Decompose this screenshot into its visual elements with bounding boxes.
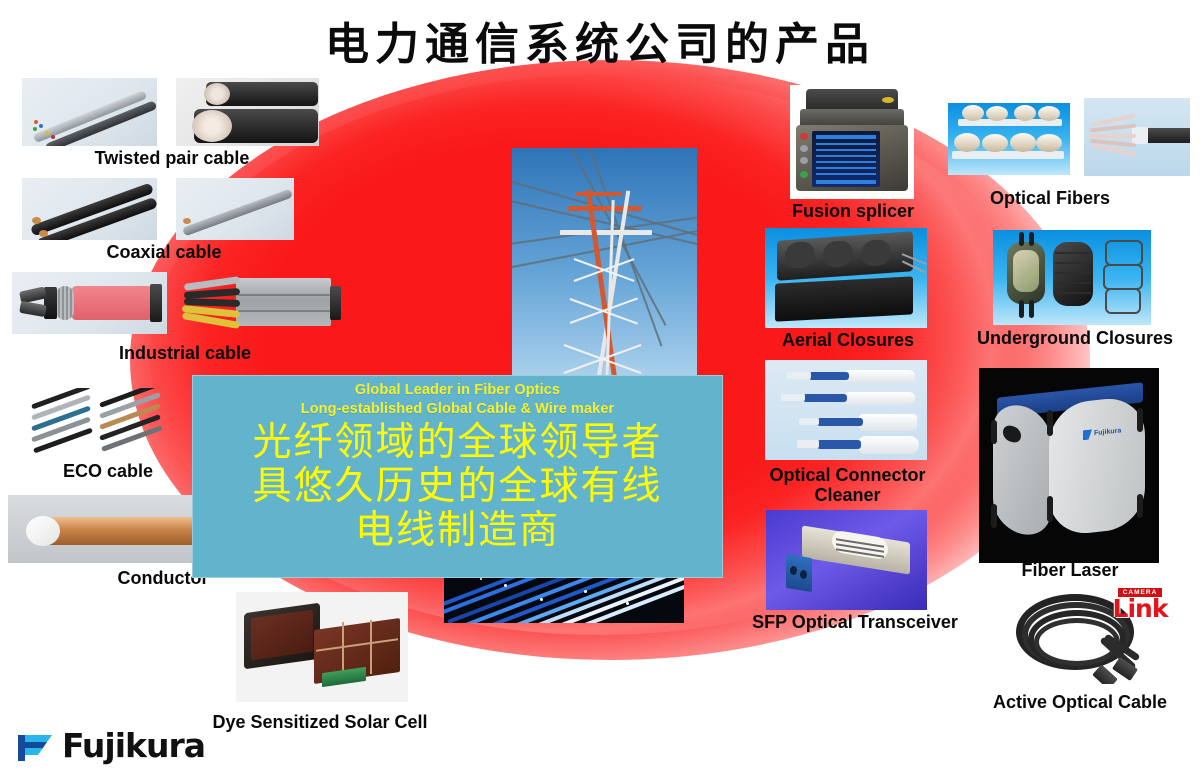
product-image-conductor (8, 495, 213, 563)
fujikura-mark-icon (14, 729, 56, 763)
product-image-industrial-b (180, 272, 345, 334)
camera-link-main-text: Link (1104, 597, 1176, 621)
product-image-industrial-a (12, 272, 167, 334)
product-image-aerial-closures (765, 228, 927, 328)
product-label-solar-cell: Dye Sensitized Solar Cell (190, 712, 450, 732)
slide-canvas: 电力通信系统公司的产品 Twisted pair cable Coaxial c… (0, 0, 1200, 772)
callout-chinese-line-2: 具悠久历史的全球有线 (192, 465, 723, 509)
product-label-optical-fibers: Optical Fibers (960, 188, 1140, 208)
product-image-underground-closures (993, 230, 1151, 325)
product-image-eco-cable (28, 388, 168, 456)
product-image-twisted-pair-a (22, 78, 157, 146)
product-label-aerial-closures: Aerial Closures (768, 330, 928, 350)
product-image-coaxial-a (22, 178, 157, 240)
product-label-coaxial-cable: Coaxial cable (14, 242, 314, 262)
product-label-industrial-cable: Industrial cable (30, 343, 340, 363)
product-image-optical-fibers-cable-end (1084, 98, 1190, 176)
callout-chinese-line-3: 电线制造商 (192, 509, 723, 553)
product-image-optical-fibers-spools (948, 103, 1070, 175)
product-label-fiber-laser: Fiber Laser (990, 560, 1150, 580)
callout-chinese-line-1: 光纤领域的全球领导者 (192, 421, 723, 465)
product-image-connector-cleaner (765, 360, 927, 460)
camera-link-logo: CAMERA Link (1104, 588, 1176, 621)
product-image-fusion-splicer (790, 85, 914, 199)
callout-box: Global Leader in Fiber Optics Long-estab… (192, 375, 723, 578)
product-image-solar-cell (236, 592, 408, 702)
product-label-active-optical-cable: Active Optical Cable (955, 692, 1200, 712)
fujikura-logo: Fujikura (14, 726, 205, 765)
callout-english-line-1: Global Leader in Fiber Optics (192, 375, 723, 400)
product-label-sfp-transceiver: SFP Optical Transceiver (730, 612, 980, 632)
product-label-eco-cable: ECO cable (8, 461, 208, 481)
product-label-twisted-pair-cable: Twisted pair cable (22, 148, 322, 168)
product-image-fiber-laser: Fujikura (979, 368, 1159, 563)
product-image-twisted-pair-b (176, 78, 319, 146)
product-image-sfp-transceiver (766, 510, 927, 610)
product-label-fusion-splicer: Fusion splicer (768, 201, 938, 221)
product-label-connector-cleaner: Optical Connector Cleaner (760, 465, 935, 505)
page-title: 电力通信系统公司的产品 (0, 8, 1200, 72)
product-image-coaxial-b (176, 178, 294, 240)
fujikura-wordmark: Fujikura (62, 726, 205, 765)
callout-english-line-2: Long-established Global Cable & Wire mak… (192, 400, 723, 419)
product-label-underground-closures: Underground Closures (950, 328, 1200, 348)
